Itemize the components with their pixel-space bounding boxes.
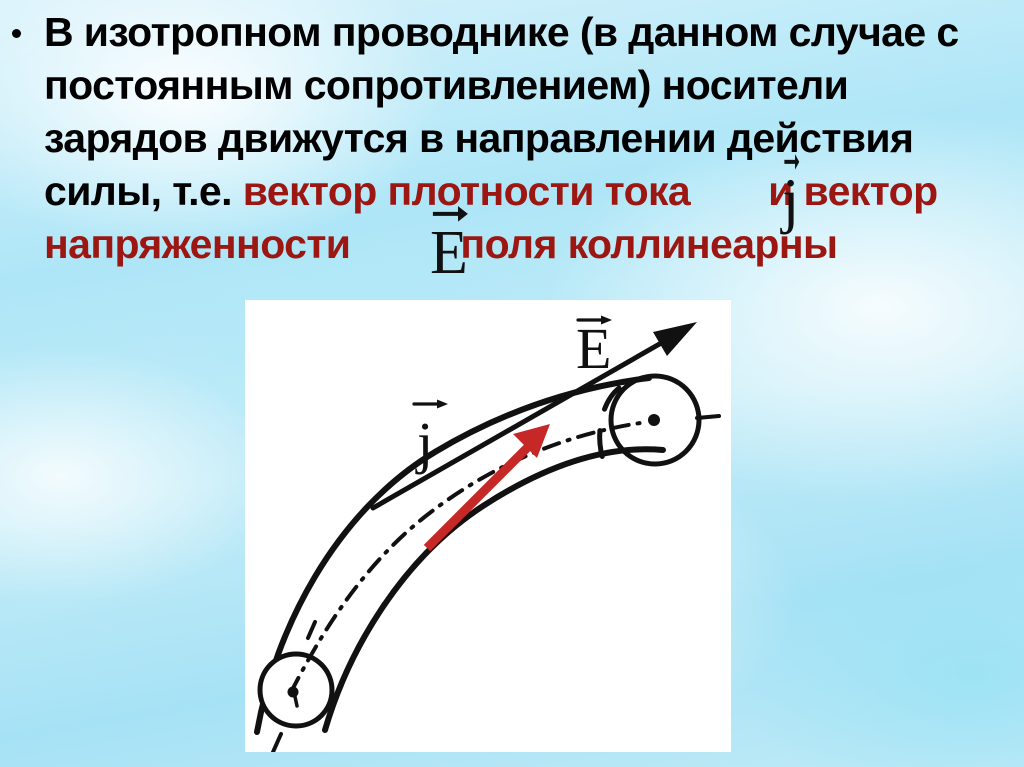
field-vector-arrow-head — [653, 322, 697, 356]
line-3-text: зарядов движутся в направлении действия — [44, 115, 913, 161]
axis-stub-right — [697, 416, 719, 418]
line-5-highlight-a: напряженности — [44, 221, 350, 267]
figure-label-j-arrow-head — [437, 400, 448, 409]
axis-stub-upper-left — [308, 622, 315, 638]
figure-label-E: E — [576, 316, 612, 382]
conductor-diagram: E j — [245, 300, 731, 752]
axis-stub-left — [273, 734, 281, 752]
vector-j-symbol: j — [782, 170, 799, 232]
line-1-text: В изотропном проводнике (в данном случае… — [44, 9, 959, 55]
conductor-axis-dash-dot — [291, 422, 647, 692]
vector-E-symbol: E — [430, 222, 468, 284]
figure-label-E-glyph: E — [576, 316, 611, 381]
vector-E-glyph: E — [430, 222, 468, 284]
bullet-line-2: постоянным сопротивлением) носители — [0, 59, 1024, 112]
figure-label-j-glyph: j — [415, 410, 433, 475]
bullet-line-4: силы, т.е. вектор плотности токаи вектор — [0, 165, 1024, 218]
line-4-highlight-a: вектор плотности тока — [243, 168, 690, 214]
bullet-line-5: напряженностиполя коллинеарны — [0, 218, 1024, 271]
bullet-line-3: зарядов движутся в направлении действия — [0, 112, 1024, 165]
conductor-inner-wall — [325, 449, 663, 730]
line-5-highlight-b: поля коллинеарны — [460, 221, 837, 267]
line-4-prefix: силы, т.е. — [44, 168, 243, 214]
bullet-dot-icon — [12, 29, 21, 38]
line-2-text: постоянным сопротивлением) носители — [44, 62, 848, 108]
bullet-line-1: В изотропном проводнике (в данном случае… — [0, 6, 1024, 59]
conductor-figure-panel: E j — [245, 300, 731, 752]
slide-canvas: В изотропном проводнике (в данном случае… — [0, 0, 1024, 767]
vector-j-glyph: j — [782, 170, 799, 232]
figure-label-j: j — [414, 400, 448, 476]
right-cap-center-dot — [648, 414, 660, 426]
current-vector-arrow-shaft — [427, 440, 535, 548]
body-text-block: В изотропном проводнике (в данном случае… — [0, 0, 1024, 271]
